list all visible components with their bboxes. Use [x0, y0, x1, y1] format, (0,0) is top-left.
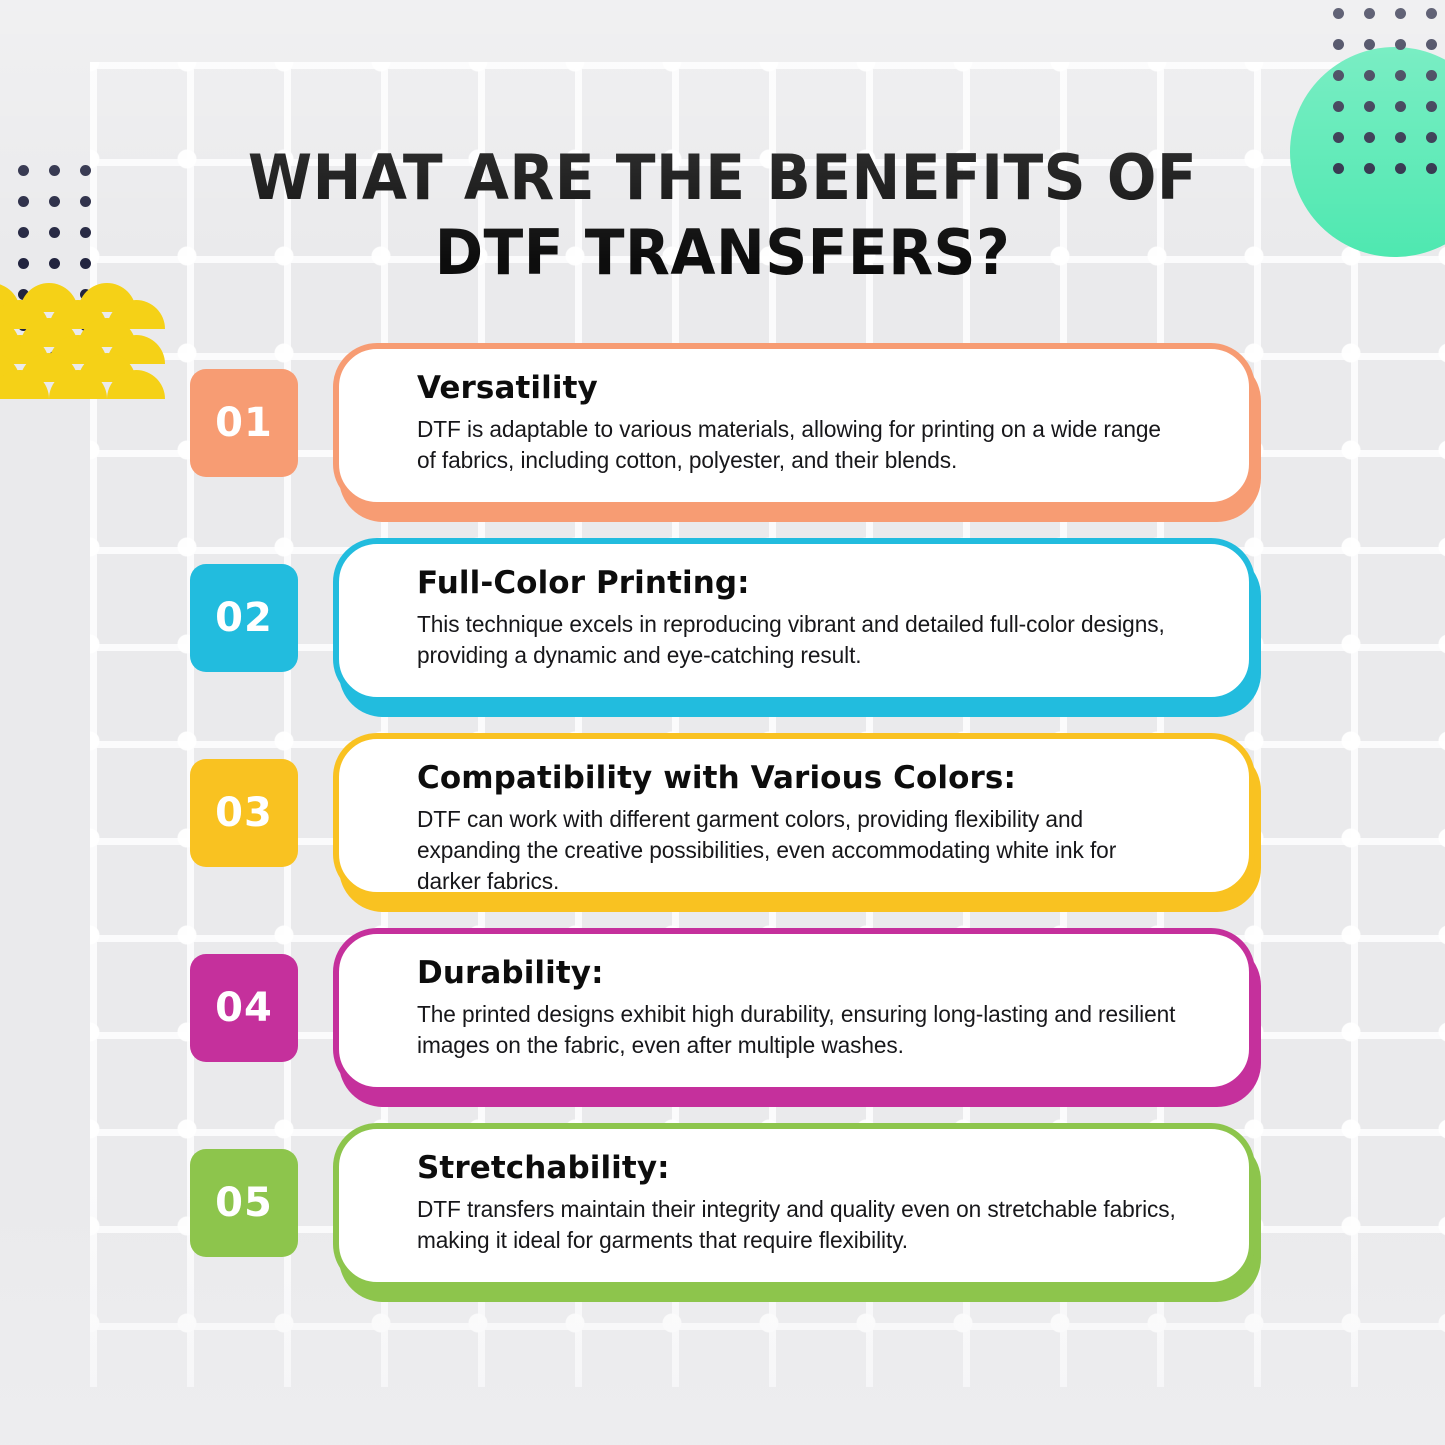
card-body: Full-Color Printing:This technique excel… — [333, 538, 1255, 703]
benefit-card[interactable]: Full-Color Printing:This technique excel… — [333, 538, 1255, 710]
card-description: DTF can work with different garment colo… — [417, 804, 1183, 897]
dot — [18, 196, 29, 207]
benefit-row: 03Compatibility with Various Colors:DTF … — [0, 733, 1445, 928]
dot — [1364, 8, 1375, 19]
dot — [80, 196, 91, 207]
page-title: WHAT ARE THE BENEFITS OF DTF TRANSFERS? — [184, 140, 1260, 290]
benefit-row: 04Durability:The printed designs exhibit… — [0, 928, 1445, 1123]
step-number-badge: 02 — [190, 564, 298, 672]
card-body: Stretchability:DTF transfers maintain th… — [333, 1123, 1255, 1288]
dot — [1333, 39, 1344, 50]
dot — [1395, 8, 1406, 19]
dot — [49, 227, 60, 238]
benefits-list: 01VersatilityDTF is adaptable to various… — [0, 343, 1445, 1323]
benefit-row: 02Full-Color Printing:This technique exc… — [0, 538, 1445, 733]
benefit-row: 05Stretchability:DTF transfers maintain … — [0, 1123, 1445, 1323]
dot — [18, 258, 29, 269]
card-heading: Versatility — [417, 369, 1211, 407]
card-description: This technique excels in reproducing vib… — [417, 609, 1183, 671]
card-body: Compatibility with Various Colors:DTF ca… — [333, 733, 1255, 898]
dot — [80, 227, 91, 238]
benefit-card[interactable]: Durability:The printed designs exhibit h… — [333, 928, 1255, 1100]
card-body: VersatilityDTF is adaptable to various m… — [333, 343, 1255, 508]
card-description: The printed designs exhibit high durabil… — [417, 999, 1183, 1061]
dot — [49, 196, 60, 207]
card-heading: Compatibility with Various Colors: — [417, 759, 1211, 797]
dot — [1333, 8, 1344, 19]
card-body: Durability:The printed designs exhibit h… — [333, 928, 1255, 1093]
dot — [80, 258, 91, 269]
card-heading: Stretchability: — [417, 1149, 1211, 1187]
step-number-badge: 04 — [190, 954, 298, 1062]
dot — [49, 258, 60, 269]
benefit-card[interactable]: VersatilityDTF is adaptable to various m… — [333, 343, 1255, 515]
benefit-card[interactable]: Stretchability:DTF transfers maintain th… — [333, 1123, 1255, 1295]
benefit-card[interactable]: Compatibility with Various Colors:DTF ca… — [333, 733, 1255, 905]
step-number-badge: 01 — [190, 369, 298, 477]
card-description: DTF transfers maintain their integrity a… — [417, 1194, 1183, 1256]
card-heading: Durability: — [417, 954, 1211, 992]
benefit-row: 01VersatilityDTF is adaptable to various… — [0, 343, 1445, 538]
infographic-canvas: WHAT ARE THE BENEFITS OF DTF TRANSFERS? … — [0, 0, 1445, 1445]
step-number-badge: 05 — [190, 1149, 298, 1257]
dot — [1426, 39, 1437, 50]
teal-circle-decoration — [1290, 47, 1445, 257]
dot — [49, 165, 60, 176]
dot — [18, 227, 29, 238]
step-number-badge: 03 — [190, 759, 298, 867]
card-description: DTF is adaptable to various materials, a… — [417, 414, 1183, 476]
dot — [1426, 8, 1437, 19]
dot — [80, 165, 91, 176]
card-heading: Full-Color Printing: — [417, 564, 1211, 602]
dot — [18, 165, 29, 176]
